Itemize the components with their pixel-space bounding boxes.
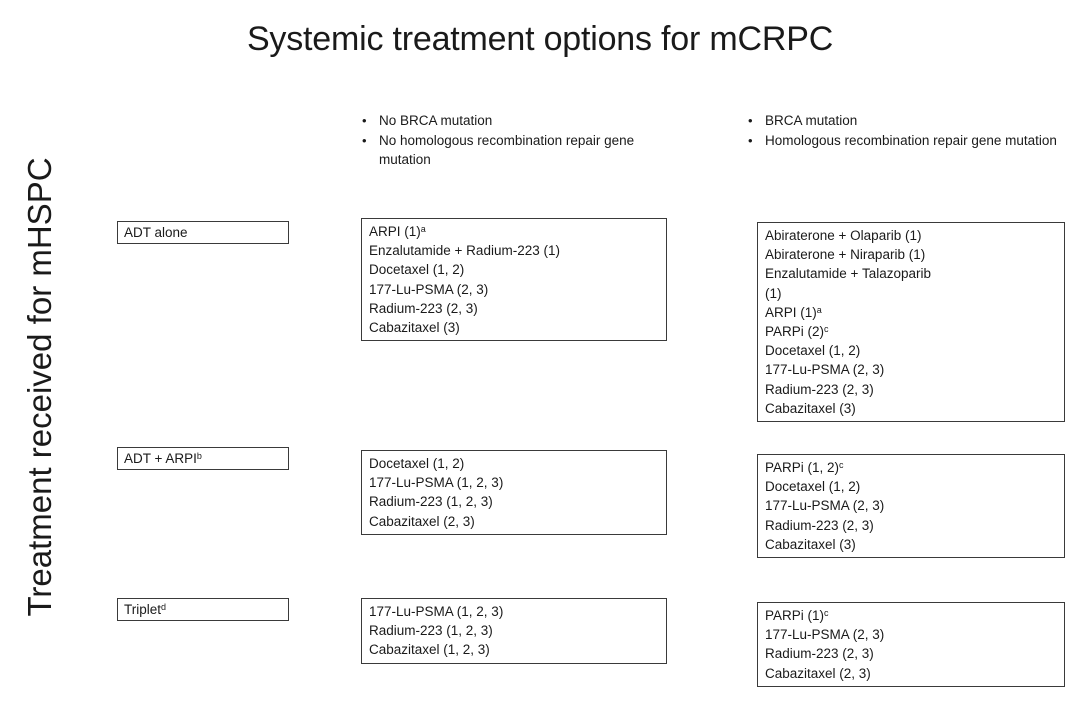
treatment-option-label: ARPI (1) xyxy=(369,224,421,239)
treatment-option-label: PARPi (1) xyxy=(765,608,824,623)
treatment-option: Docetaxel (1, 2) xyxy=(369,260,666,279)
treatment-option: Cabazitaxel (3) xyxy=(765,535,1064,554)
treatment-option-label: Docetaxel (1, 2) xyxy=(369,262,464,277)
treatment-option: Radium-223 (1, 2, 3) xyxy=(369,492,666,511)
treatment-option-label: Radium-223 (1, 2, 3) xyxy=(369,494,493,509)
row-label-text: ADT alone xyxy=(124,225,188,240)
column-bullet-label: No homologous recombination repair gene … xyxy=(379,131,662,169)
treatment-option-label: Cabazitaxel (2, 3) xyxy=(369,514,475,529)
treatment-option: Enzalutamide + Radium-223 (1) xyxy=(369,241,666,260)
options-box-adt-alone-right: Abiraterone + Olaparib (1)Abiraterone + … xyxy=(757,222,1065,422)
treatment-option-label: Radium-223 (2, 3) xyxy=(369,301,478,316)
treatment-option-label: Radium-223 (1, 2, 3) xyxy=(369,623,493,638)
treatment-option: Radium-223 (2, 3) xyxy=(765,644,1064,663)
column-bullet-label: BRCA mutation xyxy=(765,111,1058,130)
treatment-option: Cabazitaxel (3) xyxy=(369,318,666,337)
treatment-option: Docetaxel (1, 2) xyxy=(369,454,666,473)
treatment-option: 177-Lu-PSMA (2, 3) xyxy=(765,625,1064,644)
row-label-text: ADT + ARPI xyxy=(124,451,197,466)
treatment-option-label: 177-Lu-PSMA (1, 2, 3) xyxy=(369,475,503,490)
options-box-triplet-left: 177-Lu-PSMA (1, 2, 3)Radium-223 (1, 2, 3… xyxy=(361,598,667,664)
treatment-option-label: Docetaxel (1, 2) xyxy=(369,456,464,471)
treatment-option-label: (1) xyxy=(765,286,782,301)
treatment-option-label: Abiraterone + Niraparib (1) xyxy=(765,247,925,262)
treatment-option: Docetaxel (1, 2) xyxy=(765,477,1064,496)
footnote-marker: c xyxy=(839,460,844,470)
treatment-option-label: Cabazitaxel (3) xyxy=(765,537,856,552)
row-label-text: Triplet xyxy=(124,602,161,617)
treatment-option-label: Abiraterone + Olaparib (1) xyxy=(765,228,921,243)
footnote-marker: b xyxy=(197,451,202,461)
treatment-option: 177-Lu-PSMA (2, 3) xyxy=(765,496,1064,515)
treatment-option-label: Cabazitaxel (1, 2, 3) xyxy=(369,642,490,657)
treatment-option: 177-Lu-PSMA (2, 3) xyxy=(369,280,666,299)
treatment-option: Radium-223 (2, 3) xyxy=(369,299,666,318)
treatment-option-label: PARPi (1, 2) xyxy=(765,460,839,475)
row-label-triplet: Tripletd xyxy=(117,598,289,621)
column-bullet-item: •No BRCA mutation xyxy=(362,111,662,130)
treatment-option-label: PARPi (2) xyxy=(765,324,824,339)
treatment-option: PARPi (1, 2)c xyxy=(765,458,1064,477)
treatment-option: ARPI (1)a xyxy=(369,222,666,241)
treatment-option: Abiraterone + Olaparib (1) xyxy=(765,226,1064,245)
column-header-no-brca: •No BRCA mutation•No homologous recombin… xyxy=(362,111,662,170)
treatment-option: 177-Lu-PSMA (1, 2, 3) xyxy=(369,602,666,621)
treatment-option: Abiraterone + Niraparib (1) xyxy=(765,245,1064,264)
options-box-adt-plus-arpi-left: Docetaxel (1, 2)177-Lu-PSMA (1, 2, 3)Rad… xyxy=(361,450,667,535)
footnote-marker: c xyxy=(824,324,829,334)
column-bullet-item: •No homologous recombination repair gene… xyxy=(362,131,662,169)
treatment-option-label: Cabazitaxel (2, 3) xyxy=(765,666,871,681)
y-axis-label: Treatment received for mHSPC xyxy=(21,67,59,707)
bullet-dot-icon: • xyxy=(748,131,765,150)
treatment-option-label: 177-Lu-PSMA (2, 3) xyxy=(765,362,884,377)
treatment-option: Cabazitaxel (2, 3) xyxy=(369,512,666,531)
treatment-option-label: Docetaxel (1, 2) xyxy=(765,343,860,358)
treatment-option: Enzalutamide + Talazoparib xyxy=(765,264,1064,283)
treatment-option: Radium-223 (2, 3) xyxy=(765,380,1064,399)
treatment-option-label: 177-Lu-PSMA (1, 2, 3) xyxy=(369,604,503,619)
treatment-option-label: Enzalutamide + Talazoparib xyxy=(765,266,931,281)
options-box-triplet-right: PARPi (1)c177-Lu-PSMA (2, 3)Radium-223 (… xyxy=(757,602,1065,687)
bullet-dot-icon: • xyxy=(748,111,765,130)
treatment-option: Docetaxel (1, 2) xyxy=(765,341,1064,360)
treatment-option: Radium-223 (1, 2, 3) xyxy=(369,621,666,640)
treatment-option-label: Radium-223 (2, 3) xyxy=(765,646,874,661)
treatment-option-label: Docetaxel (1, 2) xyxy=(765,479,860,494)
treatment-option-label: Radium-223 (2, 3) xyxy=(765,382,874,397)
treatment-option: Cabazitaxel (2, 3) xyxy=(765,664,1064,683)
treatment-option: Cabazitaxel (1, 2, 3) xyxy=(369,640,666,659)
row-label-adt-alone: ADT alone xyxy=(117,221,289,244)
treatment-option: 177-Lu-PSMA (2, 3) xyxy=(765,360,1064,379)
treatment-option: Radium-223 (2, 3) xyxy=(765,516,1064,535)
treatment-option-label: Cabazitaxel (3) xyxy=(369,320,460,335)
bullet-dot-icon: • xyxy=(362,131,379,150)
footnote-marker: a xyxy=(817,305,822,315)
column-bullet-item: •BRCA mutation xyxy=(748,111,1058,130)
options-box-adt-alone-left: ARPI (1)aEnzalutamide + Radium-223 (1)Do… xyxy=(361,218,667,341)
column-bullet-label: No BRCA mutation xyxy=(379,111,662,130)
treatment-option: 177-Lu-PSMA (1, 2, 3) xyxy=(369,473,666,492)
footnote-marker: c xyxy=(824,608,829,618)
treatment-option-label: Enzalutamide + Radium-223 (1) xyxy=(369,243,560,258)
options-box-adt-plus-arpi-right: PARPi (1, 2)cDocetaxel (1, 2)177-Lu-PSMA… xyxy=(757,454,1065,558)
footnote-marker: a xyxy=(421,224,426,234)
column-header-brca: •BRCA mutation•Homologous recombination … xyxy=(748,111,1058,151)
treatment-option-label: 177-Lu-PSMA (2, 3) xyxy=(369,282,488,297)
treatment-option-label: Radium-223 (2, 3) xyxy=(765,518,874,533)
treatment-option: (1) xyxy=(765,284,1064,303)
treatment-option-label: 177-Lu-PSMA (2, 3) xyxy=(765,627,884,642)
column-bullet-item: •Homologous recombination repair gene mu… xyxy=(748,131,1058,150)
treatment-option-label: ARPI (1) xyxy=(765,305,817,320)
treatment-option: ARPI (1)a xyxy=(765,303,1064,322)
treatment-option: PARPi (2)c xyxy=(765,322,1064,341)
treatment-option: Cabazitaxel (3) xyxy=(765,399,1064,418)
bullet-dot-icon: • xyxy=(362,111,379,130)
page-title: Systemic treatment options for mCRPC xyxy=(0,20,1080,59)
column-bullet-label: Homologous recombination repair gene mut… xyxy=(765,131,1058,150)
row-label-adt-plus-arpi: ADT + ARPIb xyxy=(117,447,289,470)
treatment-option-label: 177-Lu-PSMA (2, 3) xyxy=(765,498,884,513)
footnote-marker: d xyxy=(161,602,166,612)
treatment-option: PARPi (1)c xyxy=(765,606,1064,625)
treatment-option-label: Cabazitaxel (3) xyxy=(765,401,856,416)
